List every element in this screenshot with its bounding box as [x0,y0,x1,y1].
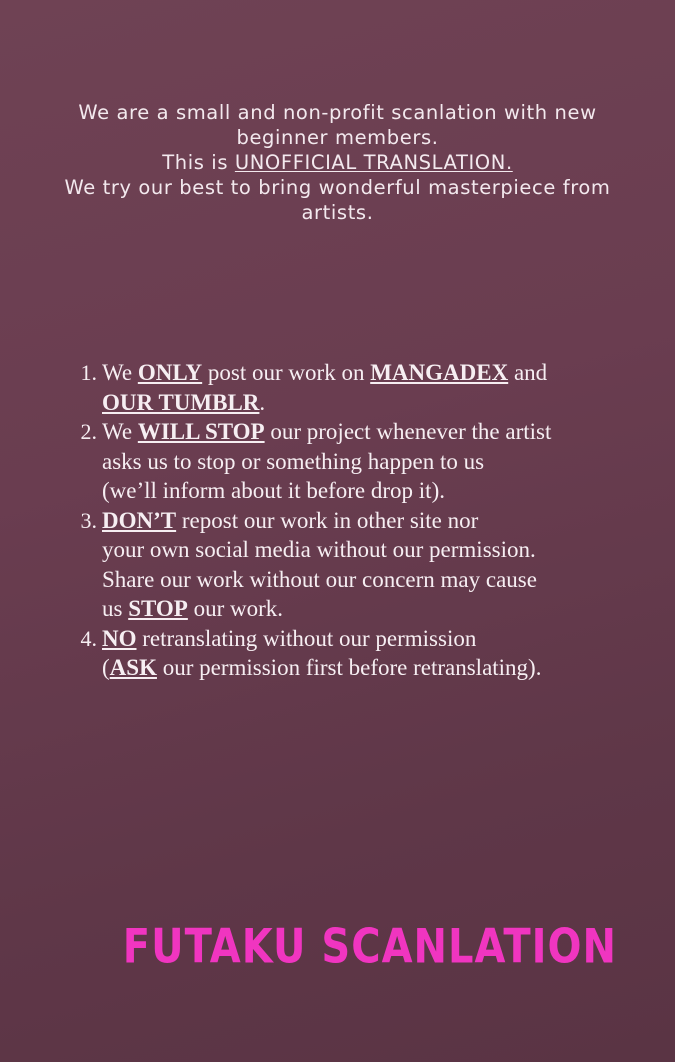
rule-text-fragment: and [508,360,547,385]
rule-text-fragment: our work. [188,596,283,621]
rule-text-fragment: Share our work without our concern may c… [102,567,537,592]
rule-item: 4.NO retranslating without our permissio… [70,624,630,683]
notice-line-3-prefix: This is [162,151,235,174]
rule-line: (ASK our permission first before retrans… [102,653,630,683]
rule-line: OUR TUMBLR. [102,388,630,418]
rule-item: 2.We WILL STOP our project whenever the … [70,417,630,506]
rule-line: We WILL STOP our project whenever the ar… [102,417,630,447]
rule-number: 3. [70,506,102,536]
rule-text-fragment: your own social media without our permis… [102,537,536,562]
scanlation-notice-page: We are a small and non-profit scanlation… [0,0,675,1062]
rule-text-fragment: repost our work in other site nor [176,508,478,533]
notice-line-3-underlined: UNOFFICIAL TRANSLATION. [235,151,513,174]
rule-text-fragment: We [102,419,138,444]
futaku-scanlation-logo: FUTAKU SCANLATION [0,920,675,974]
rule-text-fragment: (we’ll inform about it before drop it). [102,478,445,503]
rule-line: us STOP our work. [102,594,630,624]
rules-list: 1.We ONLY post our work on MANGADEX andO… [70,358,630,683]
rule-text-fragment: post our work on [202,360,370,385]
rule-line: NO retranslating without our permission [102,624,630,654]
rule-line: your own social media without our permis… [102,535,630,565]
rule-emphasis: ONLY [138,360,202,385]
rule-text: NO retranslating without our permission(… [102,624,630,683]
rule-text-fragment: ( [102,655,110,680]
rule-emphasis: STOP [128,596,188,621]
rule-text-fragment: us [102,596,128,621]
rule-emphasis: WILL STOP [138,419,265,444]
rule-text-fragment: We [102,360,138,385]
rule-line: asks us to stop or something happen to u… [102,447,630,477]
rule-emphasis: DON’T [102,508,176,533]
notice-line-1: We are a small and non-profit scanlation… [0,100,675,125]
rule-line: DON’T repost our work in other site nor [102,506,630,536]
rule-item: 3.DON’T repost our work in other site no… [70,506,630,624]
rule-text-fragment: asks us to stop or something happen to u… [102,449,484,474]
rule-text-fragment: our permission first before retranslatin… [157,655,542,680]
rule-line: Share our work without our concern may c… [102,565,630,595]
notice-line-5: artists. [0,200,675,225]
rule-line: We ONLY post our work on MANGADEX and [102,358,630,388]
rule-line: (we’ll inform about it before drop it). [102,476,630,506]
rule-text: We ONLY post our work on MANGADEX andOUR… [102,358,630,417]
rule-emphasis: NO [102,626,137,651]
rule-emphasis: OUR TUMBLR [102,390,259,415]
notice-line-3: This is UNOFFICIAL TRANSLATION. [0,150,675,175]
rule-text-fragment: . [259,390,265,415]
rule-emphasis: MANGADEX [370,360,508,385]
rule-number: 4. [70,624,102,654]
rule-emphasis: ASK [110,655,157,680]
rule-text-fragment: retranslating without our permission [137,626,477,651]
rule-text-fragment: our project whenever the artist [265,419,552,444]
rule-text: DON’T repost our work in other site nory… [102,506,630,624]
notice-block: We are a small and non-profit scanlation… [0,100,675,225]
rule-text: We WILL STOP our project whenever the ar… [102,417,630,506]
rule-item: 1.We ONLY post our work on MANGADEX andO… [70,358,630,417]
rule-number: 2. [70,417,102,447]
notice-line-4: We try our best to bring wonderful maste… [0,175,675,200]
notice-line-2: beginner members. [0,125,675,150]
rule-number: 1. [70,358,102,388]
